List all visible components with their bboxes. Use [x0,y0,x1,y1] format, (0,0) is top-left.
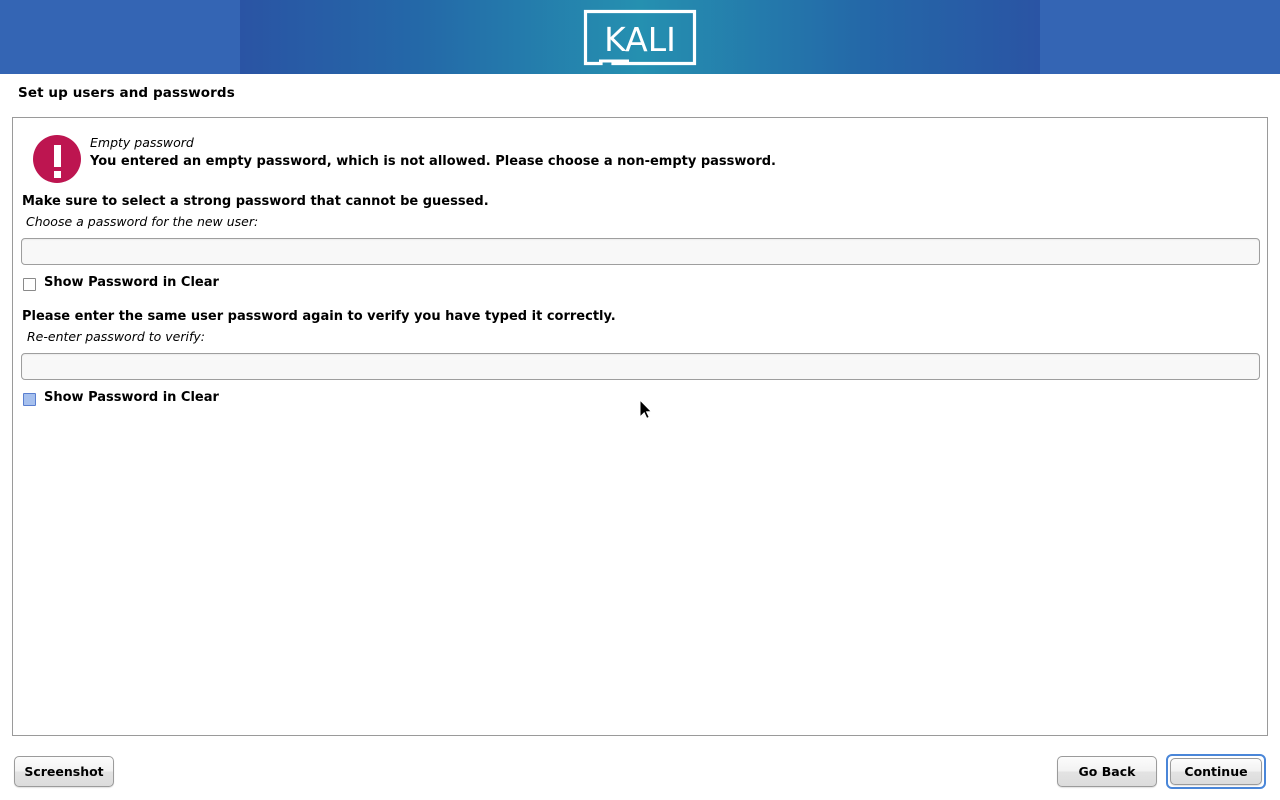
verify-password-hint: Please enter the same user password agai… [22,309,616,324]
show-password-checkbox-1[interactable] [23,278,36,291]
mouse-pointer [634,396,654,422]
go-back-button[interactable]: Go Back [1057,756,1157,787]
show-password-checkbox-2-label: Show Password in Clear [44,390,219,405]
main-content-panel: Empty password You entered an empty pass… [12,117,1268,736]
exclamation-dot [54,171,61,178]
password-field-label: Choose a password for the new user: [26,214,258,229]
kali-logo-text: KALI [604,20,676,59]
verify-field-label: Re-enter password to verify: [27,329,205,344]
error-exclamation-icon [33,135,81,183]
screenshot-button[interactable]: Screenshot [14,756,114,787]
verify-password-input[interactable] [21,353,1260,380]
exclamation-bar [54,145,61,167]
kali-logo: KALI [583,9,697,66]
page-title: Set up users and passwords [18,85,235,101]
password-strength-hint: Make sure to select a strong password th… [22,194,489,209]
error-title: Empty password [90,135,194,150]
password-input[interactable] [21,238,1260,265]
show-password-checkbox-1-label: Show Password in Clear [44,275,219,290]
header-banner: KALI [0,0,1280,74]
continue-button[interactable]: Continue [1170,758,1262,785]
show-password-checkbox-2[interactable] [23,393,36,406]
error-message: You entered an empty password, which is … [90,154,776,169]
error-notice: Empty password You entered an empty pass… [22,126,1252,194]
